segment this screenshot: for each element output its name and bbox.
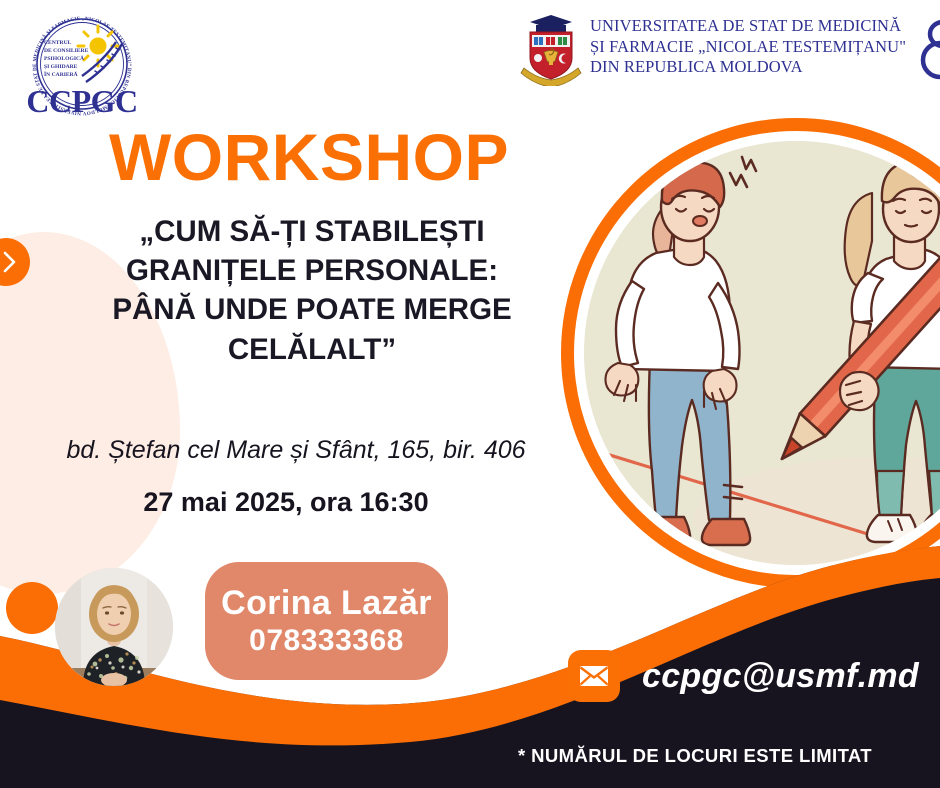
envelope-icon xyxy=(568,650,620,702)
poster-header: UNIVERSITATEA DE STAT DE MEDICINĂ ȘI FAR… xyxy=(0,0,940,112)
presenter-phone[interactable]: 078333368 xyxy=(249,626,404,656)
envelope-glyph xyxy=(579,665,609,687)
university-name-line2: ȘI FARMACIE „NICOLAE TESTEMIȚANU" xyxy=(590,37,906,58)
contact-email[interactable]: ccpgc@usmf.md xyxy=(642,657,919,696)
svg-text:ÎN CARIERĂ: ÎN CARIERĂ xyxy=(44,70,78,78)
presenter-name-pill: Corina Lazăr 078333368 xyxy=(205,562,448,680)
presenter-name: Corina Lazăr xyxy=(221,586,432,620)
orange-dot-decoration xyxy=(6,582,58,634)
venue-address: bd. Ștefan cel Mare și Sfânt, 165, bir. … xyxy=(6,436,586,465)
svg-text:ȘI GHIDARE: ȘI GHIDARE xyxy=(44,64,78,70)
subtitle-line-4: CELĂLALT” xyxy=(62,330,562,369)
workshop-subtitle: „CUM SĂ-ȚI STABILEȘTI GRANIȚELE PERSONAL… xyxy=(62,212,562,369)
svg-text:DE CONSILIERE: DE CONSILIERE xyxy=(44,48,89,54)
university-logo-block: UNIVERSITATEA DE STAT DE MEDICINĂ ȘI FAR… xyxy=(520,8,940,86)
presenter-avatar xyxy=(55,568,173,686)
subtitle-line-3: PÂNĂ UNDE POATE MERGE xyxy=(62,290,562,329)
university-name-line3: DIN REPUBLICA MOLDOVA xyxy=(590,57,906,78)
limited-seats-note: * NUMĂRUL DE LOCURI ESTE LIMITAT xyxy=(470,745,920,767)
poster-root: UNIVERSITATEA DE STAT DE MEDICINĂ ȘI FAR… xyxy=(0,0,940,788)
presenter-portrait xyxy=(55,568,173,686)
university-name: UNIVERSITATEA DE STAT DE MEDICINĂ ȘI FAR… xyxy=(590,16,906,79)
contact-email-row[interactable]: ccpgc@usmf.md xyxy=(568,650,919,702)
subtitle-line-2: GRANIȚELE PERSONALE: xyxy=(62,251,562,290)
ccpgc-logo: UNIVERSITATEA DE STAT DE MEDICINĂ ȘI FAR… xyxy=(12,8,152,120)
event-datetime: 27 mai 2025, ora 16:30 xyxy=(6,487,566,518)
svg-text:CENTRUL: CENTRUL xyxy=(44,40,72,46)
ccpgc-acronym: CCPGC xyxy=(26,83,137,119)
chevron-right-icon xyxy=(2,250,18,274)
page-title: WORKSHOP xyxy=(0,124,618,190)
svg-text:PSIHOLOGICĂ: PSIHOLOGICĂ xyxy=(44,54,84,62)
university-crest-icon xyxy=(520,8,582,86)
university-name-line1: UNIVERSITATEA DE STAT DE MEDICINĂ xyxy=(590,16,906,37)
subtitle-line-1: „CUM SĂ-ȚI STABILEȘTI xyxy=(62,212,562,251)
anniversary-80-logo: 1945 2025 xyxy=(918,10,940,84)
